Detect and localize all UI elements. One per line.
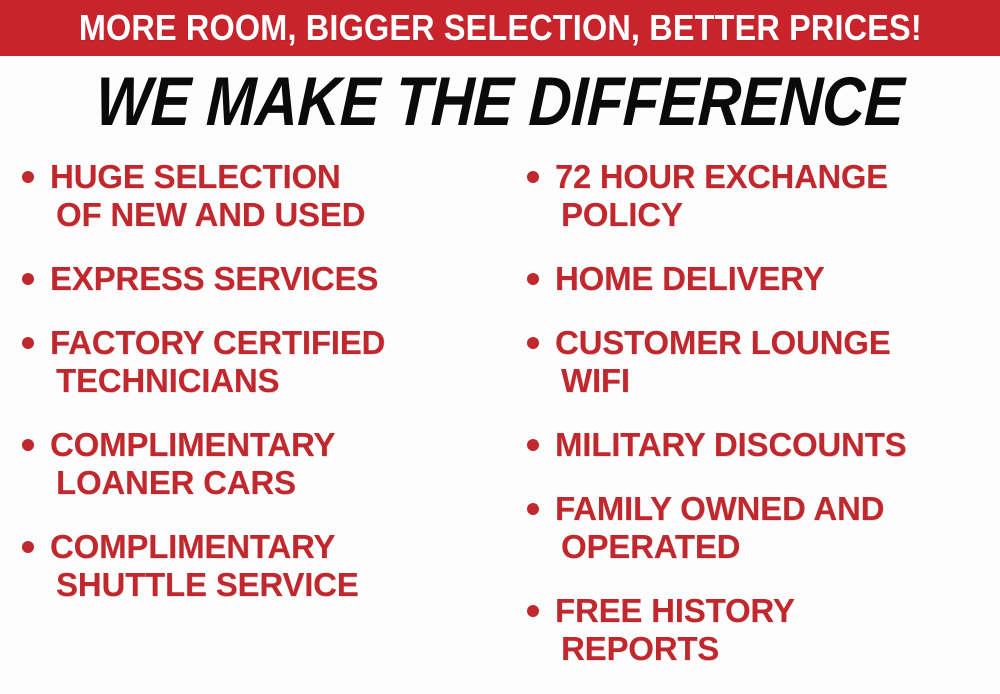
list-item: COMPLIMENTARY LOANER CARS — [0, 426, 500, 502]
benefits-column-right: 72 HOUR EXCHANGE POLICY HOME DELIVERY CU… — [500, 158, 1000, 694]
list-item-line: FACTORY CERTIFIED — [50, 324, 500, 362]
bullet-dot-icon — [527, 273, 539, 285]
list-item-text: CUSTOMER LOUNGE WIFI — [555, 324, 1000, 400]
list-item-line: MILITARY DISCOUNTS — [555, 426, 1000, 464]
headline-container: WE MAKE THE DIFFERENCE — [0, 62, 1000, 140]
benefits-columns: HUGE SELECTION OF NEW AND USED EXPRESS S… — [0, 158, 1000, 694]
list-item: FAMILY OWNED AND OPERATED — [500, 490, 1000, 566]
list-item-text: FAMILY OWNED AND OPERATED — [555, 490, 1000, 566]
list-item-text: EXPRESS SERVICES — [50, 260, 500, 298]
bullet-dot-icon — [22, 541, 34, 553]
list-item-line: REPORTS — [555, 630, 1000, 668]
list-item: FACTORY CERTIFIED TECHNICIANS — [0, 324, 500, 400]
list-item-line: EXPRESS SERVICES — [50, 260, 500, 298]
list-item-line: OF NEW AND USED — [50, 196, 500, 234]
list-item: EXPRESS SERVICES — [0, 260, 500, 298]
bullet-dot-icon — [22, 273, 34, 285]
list-item-text: COMPLIMENTARY LOANER CARS — [50, 426, 500, 502]
benefits-column-left: HUGE SELECTION OF NEW AND USED EXPRESS S… — [0, 158, 500, 694]
list-item-line: TECHNICIANS — [50, 362, 500, 400]
list-item-text: HUGE SELECTION OF NEW AND USED — [50, 158, 500, 234]
list-item-line: CUSTOMER LOUNGE — [555, 324, 1000, 362]
list-item-line: WIFI — [555, 362, 1000, 400]
list-item-text: COMPLIMENTARY SHUTTLE SERVICE — [50, 528, 500, 604]
list-item-line: FAMILY OWNED AND — [555, 490, 1000, 528]
top-promo-banner: MORE ROOM, BIGGER SELECTION, BETTER PRIC… — [0, 0, 1000, 56]
list-item-line: HOME DELIVERY — [555, 260, 1000, 298]
list-item-line: COMPLIMENTARY — [50, 426, 500, 464]
list-item: CUSTOMER LOUNGE WIFI — [500, 324, 1000, 400]
bullet-dot-icon — [527, 605, 539, 617]
list-item: HOME DELIVERY — [500, 260, 1000, 298]
list-item-text: MILITARY DISCOUNTS — [555, 426, 1000, 464]
list-item-text: FACTORY CERTIFIED TECHNICIANS — [50, 324, 500, 400]
list-item: HUGE SELECTION OF NEW AND USED — [0, 158, 500, 234]
bullet-dot-icon — [22, 439, 34, 451]
list-item-line: COMPLIMENTARY — [50, 528, 500, 566]
list-item: MILITARY DISCOUNTS — [500, 426, 1000, 464]
advertisement-banner: MORE ROOM, BIGGER SELECTION, BETTER PRIC… — [0, 0, 1000, 694]
page-title: WE MAKE THE DIFFERENCE — [94, 67, 905, 136]
list-item-text: FREE HISTORY REPORTS — [555, 592, 1000, 668]
list-item-line: OPERATED — [555, 528, 1000, 566]
promo-banner-text: MORE ROOM, BIGGER SELECTION, BETTER PRIC… — [79, 10, 922, 46]
list-item-text: HOME DELIVERY — [555, 260, 1000, 298]
bullet-dot-icon — [22, 337, 34, 349]
bullet-dot-icon — [527, 337, 539, 349]
list-item-line: POLICY — [555, 196, 1000, 234]
list-item: 72 HOUR EXCHANGE POLICY — [500, 158, 1000, 234]
list-item-line: FREE HISTORY — [555, 592, 1000, 630]
bullet-dot-icon — [527, 171, 539, 183]
list-item-line: 72 HOUR EXCHANGE — [555, 158, 996, 196]
list-item-text: 72 HOUR EXCHANGE POLICY — [555, 158, 1000, 234]
list-item: FREE HISTORY REPORTS — [500, 592, 1000, 668]
bullet-dot-icon — [527, 503, 539, 515]
list-item-line: HUGE SELECTION — [50, 158, 500, 196]
list-item: COMPLIMENTARY SHUTTLE SERVICE — [0, 528, 500, 604]
bullet-dot-icon — [22, 171, 34, 183]
list-item-line: SHUTTLE SERVICE — [50, 566, 500, 604]
list-item-line: LOANER CARS — [50, 464, 500, 502]
bullet-dot-icon — [527, 439, 539, 451]
